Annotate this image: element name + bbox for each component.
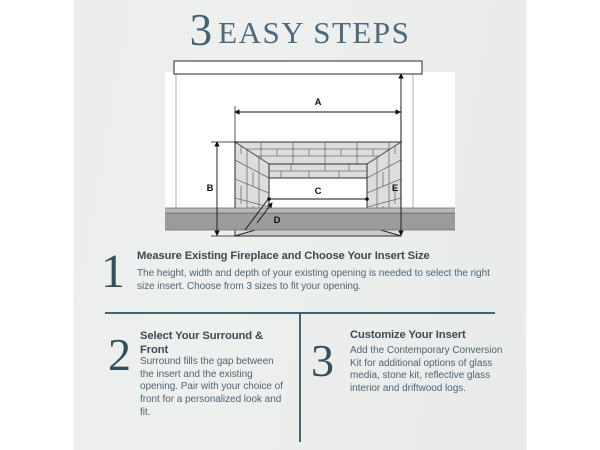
step-1-heading: Measure Existing Fireplace and Choose Yo… xyxy=(137,250,507,264)
title-words: EASY STEPS xyxy=(218,15,410,50)
step-3-number: 3 xyxy=(311,338,334,384)
step-1-body: The height, width and depth of your exis… xyxy=(137,268,497,293)
step-1-number: 1 xyxy=(101,248,125,296)
page-title: 3EASY STEPS xyxy=(0,8,600,53)
panel-right-edge xyxy=(525,0,527,450)
step-3-body: Add the Contemporary Conversion Kit for … xyxy=(350,345,510,396)
vertical-divider xyxy=(299,312,301,442)
step-2-body: Surround fills the gap between the inser… xyxy=(140,356,290,419)
fireplace-measurement-diagram: A B E C D xyxy=(165,58,455,238)
step-3-heading: Customize Your Insert xyxy=(350,329,515,343)
infographic-canvas: 3EASY STEPS xyxy=(0,0,600,450)
svg-text:A: A xyxy=(315,97,322,108)
step-2-number: 2 xyxy=(108,332,131,378)
step-2-heading: Select Your Surround & Front xyxy=(140,330,285,357)
svg-text:B: B xyxy=(207,183,214,194)
svg-text:D: D xyxy=(274,215,281,226)
svg-text:E: E xyxy=(392,183,398,194)
panel-left-edge xyxy=(73,0,75,450)
title-number: 3 xyxy=(190,5,213,55)
svg-text:C: C xyxy=(315,186,322,197)
